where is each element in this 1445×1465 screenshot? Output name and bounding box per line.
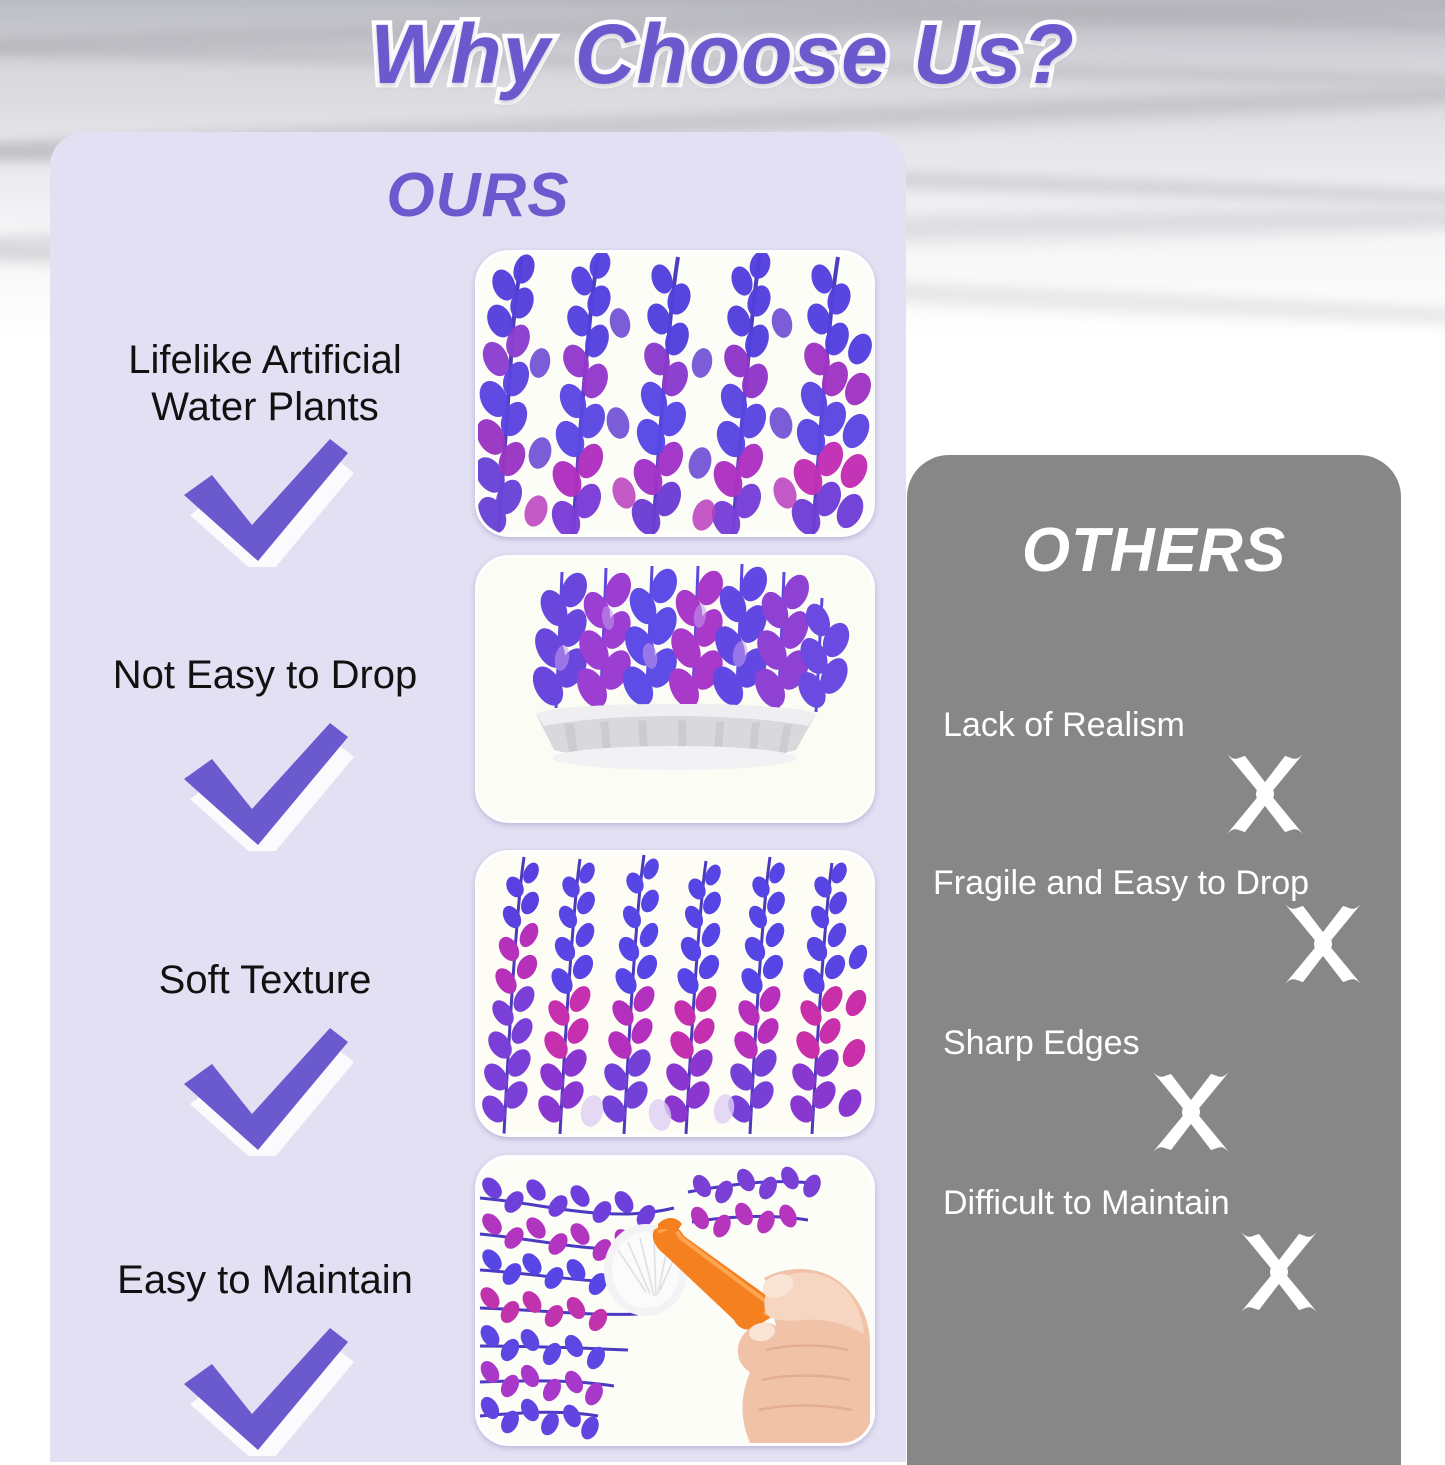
x-mark-container xyxy=(907,902,1401,998)
x-mark-icon xyxy=(1145,1066,1237,1158)
check-mark-container xyxy=(50,721,480,841)
check-mark-icon xyxy=(170,437,360,567)
x-mark-container xyxy=(907,1222,1401,1318)
x-mark-container xyxy=(907,744,1401,840)
others-drawback-label: Lack of Realism xyxy=(943,707,1401,744)
others-drawback-row: Difficult to Maintain xyxy=(907,1185,1401,1318)
x-mark-container xyxy=(907,1062,1401,1158)
product-image-card xyxy=(475,250,875,537)
check-mark-container xyxy=(50,437,480,557)
ours-feature-label: Lifelike Artificial Water Plants xyxy=(65,337,465,431)
others-drawback-label: Difficult to Maintain xyxy=(943,1185,1401,1222)
others-panel: OTHERS Lack of Realism Fragile and Easy … xyxy=(907,455,1401,1465)
product-image-card xyxy=(475,555,875,823)
others-heading: OTHERS xyxy=(907,515,1401,586)
check-mark-container xyxy=(50,1026,480,1146)
ours-feature-row: Not Easy to Drop xyxy=(50,652,480,841)
check-mark-container xyxy=(50,1326,480,1446)
ours-feature-label: Soft Texture xyxy=(65,957,465,1004)
check-mark-icon xyxy=(170,1026,360,1156)
others-drawback-label: Sharp Edges xyxy=(943,1025,1401,1062)
ours-feature-label-line1: Lifelike Artificial xyxy=(65,337,465,384)
page-title: Why Choose Us? xyxy=(0,6,1445,103)
ours-feature-label-line1: Soft Texture xyxy=(65,957,465,1004)
others-drawback-row: Sharp Edges xyxy=(907,1025,1401,1158)
ours-feature-row: Lifelike Artificial Water Plants xyxy=(50,337,480,557)
ours-feature-row: Soft Texture xyxy=(50,957,480,1146)
hand-brushing-plants-image xyxy=(478,1158,872,1443)
x-mark-icon xyxy=(1233,1226,1325,1318)
others-drawback-row: Fragile and Easy to Drop xyxy=(907,865,1401,998)
ours-feature-label: Easy to Maintain xyxy=(65,1257,465,1304)
x-mark-icon xyxy=(1219,748,1311,840)
ours-heading: OURS xyxy=(50,160,906,231)
ours-feature-label: Not Easy to Drop xyxy=(65,652,465,699)
check-mark-icon xyxy=(170,1326,360,1456)
tall-feathery-purple-plants-image xyxy=(478,853,872,1134)
plant-with-weighted-base-image xyxy=(478,558,872,820)
ours-feature-label-line1: Easy to Maintain xyxy=(65,1257,465,1304)
x-mark-icon xyxy=(1277,898,1369,990)
dense-purple-aquarium-plants-image xyxy=(478,253,872,534)
ours-feature-label-line2: Water Plants xyxy=(65,384,465,431)
check-mark-icon xyxy=(170,721,360,851)
product-image-card xyxy=(475,850,875,1137)
others-drawback-label: Fragile and Easy to Drop xyxy=(933,865,1401,902)
ours-feature-row: Easy to Maintain xyxy=(50,1257,480,1446)
ours-feature-label-line1: Not Easy to Drop xyxy=(65,652,465,699)
others-drawback-row: Lack of Realism xyxy=(907,707,1401,840)
product-image-card xyxy=(475,1155,875,1446)
